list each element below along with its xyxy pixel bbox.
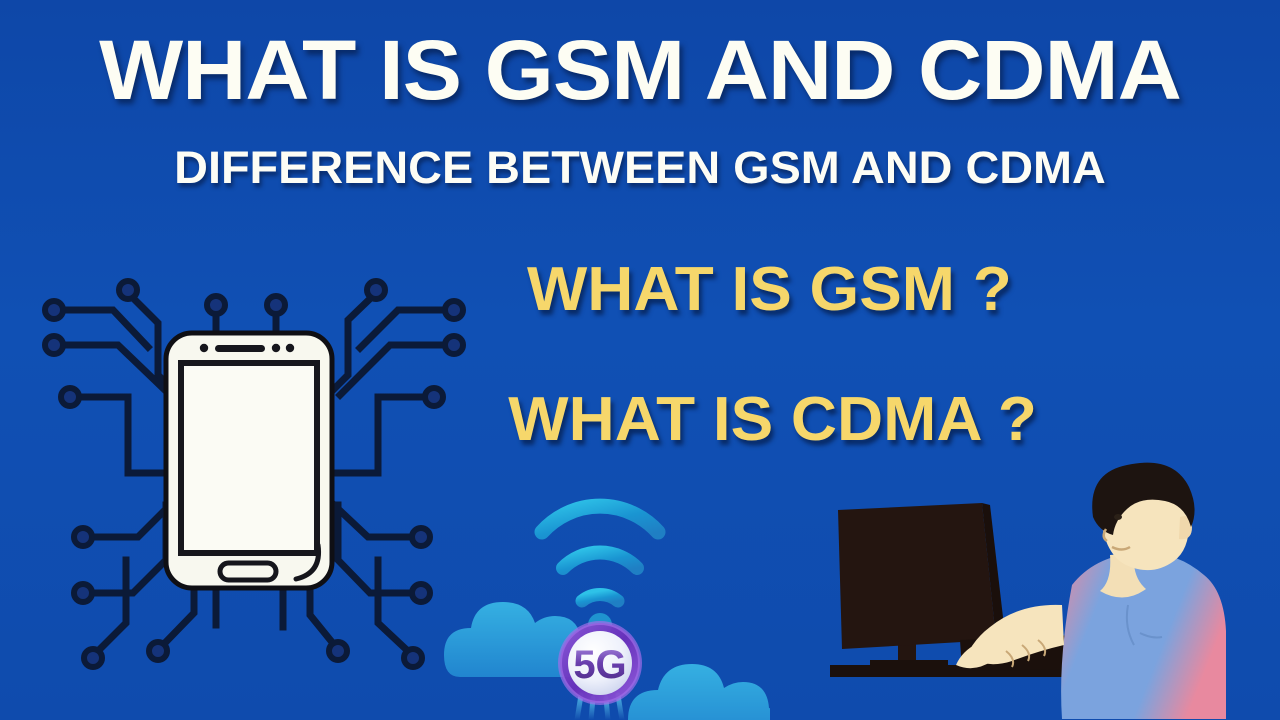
monitor-screen [838,503,996,649]
question-what-is-gsm: WHAT IS GSM ? [527,255,1012,325]
badge-5g-label: 5G [573,643,626,687]
person-at-computer-illustration [810,455,1260,720]
question-what-is-cdma: WHAT IS CDMA ? [508,385,1037,455]
person-shirt [1061,552,1226,719]
page-title: WHAT IS GSM AND CDMA [0,22,1280,118]
badge-5g: 5G [560,623,640,703]
monitor-base [870,660,948,670]
cloud-right [628,664,770,720]
page-subtitle: DIFFERENCE BETWEEN GSM AND CDMA [0,140,1280,196]
smartphone-body [166,333,332,588]
person-eye [1114,514,1122,520]
thumbnail-canvas: WHAT IS GSM AND CDMA DIFFERENCE BETWEEN … [0,0,1280,720]
5g-signal-tower-illustration: 5G [430,470,770,720]
smartphone-circuit-illustration [18,215,488,705]
